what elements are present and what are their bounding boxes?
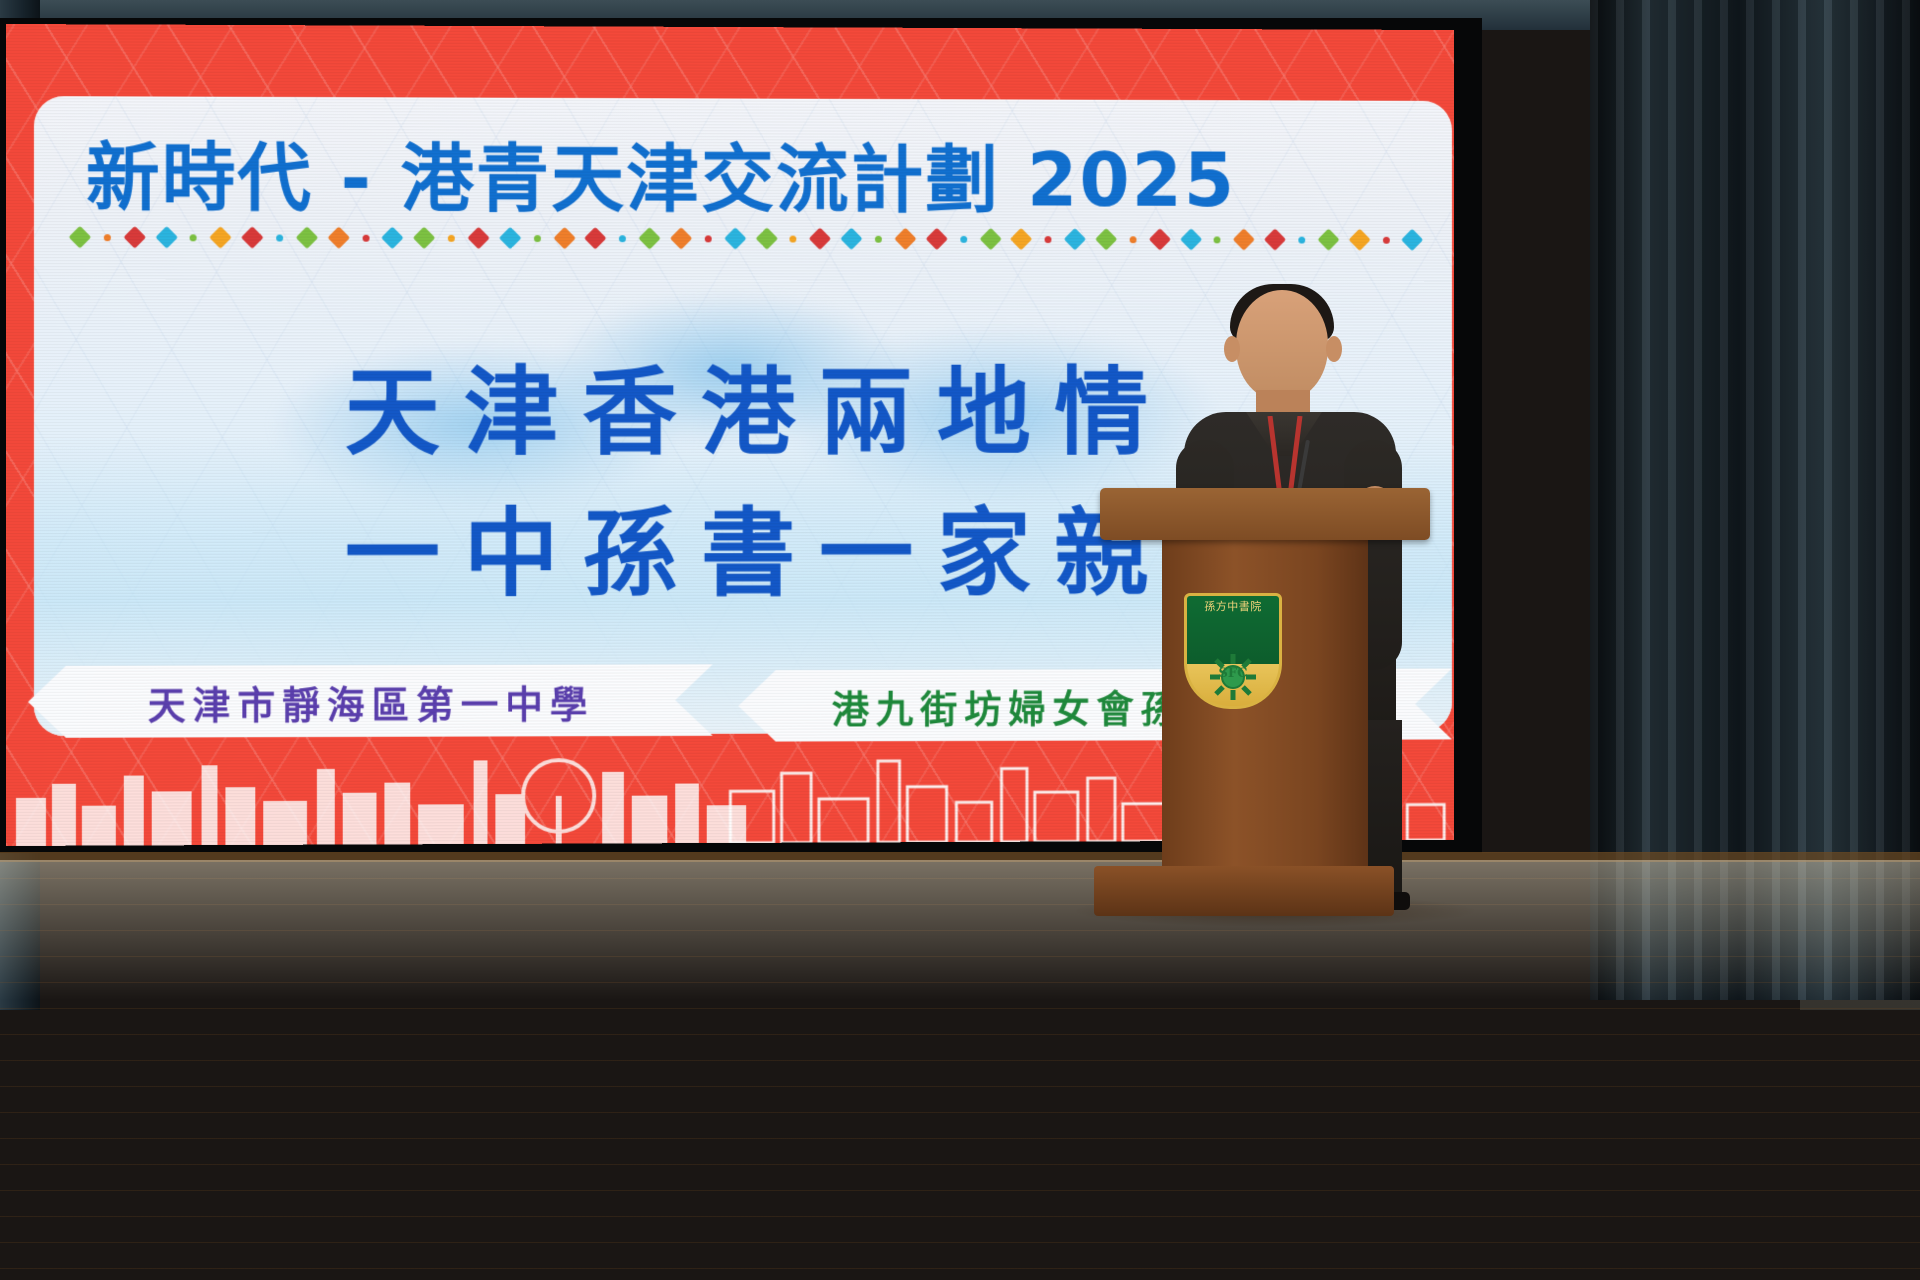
divider-diamond: [209, 226, 232, 249]
crest-monogram: SFC: [1219, 666, 1248, 681]
divider-diamond: [670, 227, 692, 249]
curtain-right: [1590, 0, 1920, 1000]
speaker-head: [1236, 290, 1328, 402]
divider-diamond: [296, 226, 318, 249]
divider-diamond: [1298, 236, 1305, 243]
divider-diamond: [1214, 236, 1221, 243]
divider-diamond: [1383, 236, 1390, 243]
divider-diamond: [639, 227, 661, 249]
divider-diamond: [1264, 228, 1286, 250]
divider-diamond: [1348, 229, 1370, 251]
banner-headline: 新時代 - 港青天津交流計劃 2025: [86, 118, 1452, 228]
divider-diamond: [755, 227, 777, 249]
divider-diamond: [809, 227, 831, 249]
divider-diamond: [1010, 228, 1032, 250]
divider-diamond: [960, 235, 967, 242]
divider-diamond: [553, 227, 575, 249]
divider-diamond: [1095, 228, 1117, 250]
divider-diamond: [1045, 236, 1052, 243]
divider-diamond: [619, 235, 626, 242]
divider-diamond: [790, 235, 797, 242]
divider-diamond: [1129, 236, 1136, 243]
divider-diamond: [585, 227, 607, 249]
divider-diamond: [276, 234, 283, 241]
divider-diamond: [499, 227, 521, 250]
divider-diamond: [925, 228, 947, 250]
skyline-left-icon: [6, 734, 760, 846]
ribbon-school-tianjin: 天津市靜海區第一中學: [28, 664, 713, 738]
divider-diamond: [123, 226, 146, 249]
speaker-ear-left: [1224, 336, 1240, 362]
podium-column: [1162, 538, 1368, 868]
diamond-divider: [72, 224, 1421, 253]
speaker-ear-right: [1326, 336, 1342, 362]
divider-diamond: [724, 227, 746, 249]
divider-diamond: [705, 235, 712, 242]
floor-reflection: [0, 860, 1920, 1000]
divider-diamond: [241, 226, 264, 249]
divider-diamond: [467, 227, 489, 250]
divider-diamond: [1233, 228, 1255, 250]
podium-lectern-top: [1100, 488, 1430, 540]
divider-diamond: [1317, 229, 1339, 251]
divider-diamond: [413, 227, 435, 250]
divider-diamond: [1180, 228, 1202, 250]
divider-diamond: [534, 235, 541, 242]
podium-base: [1094, 866, 1394, 916]
divider-diamond: [190, 234, 197, 241]
divider-diamond: [448, 234, 455, 241]
divider-diamond: [362, 234, 369, 241]
podium: 孫方中書院 SFC: [1100, 488, 1430, 918]
school-crest: 孫方中書院 SFC: [1184, 593, 1282, 709]
crest-school-name: 孫方中書院: [1187, 598, 1279, 614]
divider-diamond: [69, 226, 92, 249]
divider-diamond: [155, 226, 178, 249]
divider-diamond: [894, 228, 916, 250]
divider-diamond: [840, 227, 862, 249]
divider-diamond: [327, 226, 349, 249]
divider-diamond: [875, 235, 882, 242]
divider-diamond: [979, 228, 1001, 250]
stage-scene: 新時代 - 港青天津交流計劃 2025 天津香港兩地情 一中孫書一家親 天津市靜…: [0, 0, 1920, 1280]
divider-diamond: [1149, 228, 1171, 250]
divider-diamond: [382, 227, 404, 250]
divider-diamond: [1402, 229, 1424, 251]
divider-diamond: [104, 234, 111, 241]
divider-diamond: [1064, 228, 1086, 250]
